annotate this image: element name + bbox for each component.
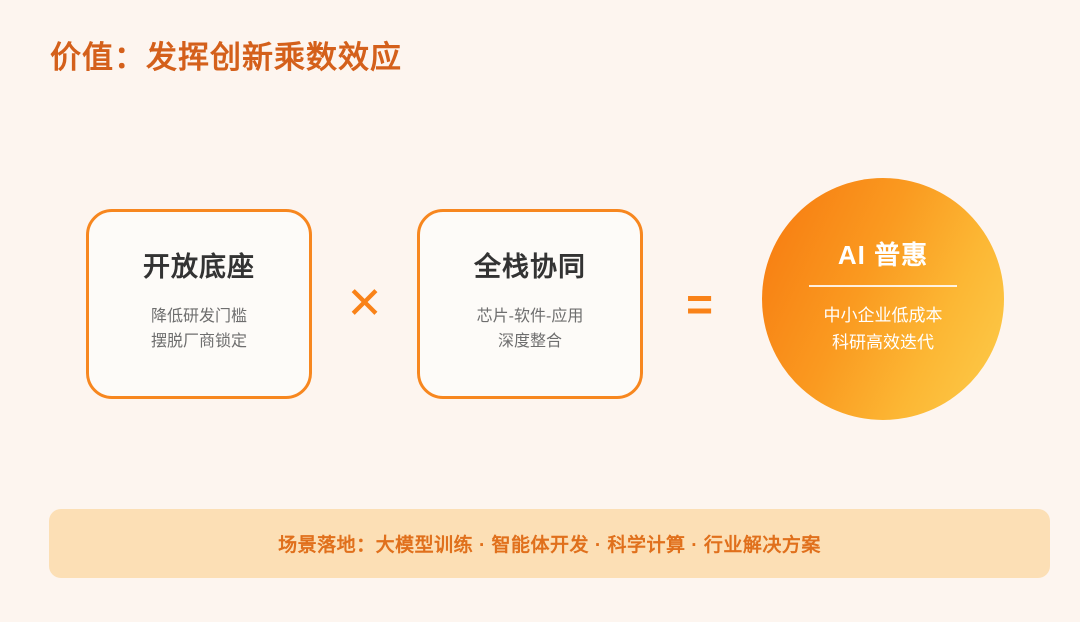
result-circle-divider bbox=[809, 285, 957, 287]
scene-banner-text: 场景落地：大模型训练 · 智能体开发 · 科学计算 · 行业解决方案 bbox=[278, 530, 821, 557]
concept-card-subtitle-line-1: 芯片-软件-应用 bbox=[477, 305, 584, 330]
concept-card-subtitle-line-2: 深度整合 bbox=[477, 330, 584, 355]
concept-card-full-stack: 全栈协同 芯片-软件-应用 深度整合 bbox=[417, 209, 643, 399]
result-circle-title: AI 普惠 bbox=[838, 242, 928, 268]
scene-banner: 场景落地：大模型训练 · 智能体开发 · 科学计算 · 行业解决方案 bbox=[49, 509, 1050, 578]
multiply-icon: ✕ bbox=[312, 209, 417, 399]
result-circle-subtitle-line-1: 中小企业低成本 bbox=[824, 302, 943, 329]
result-circle-ai-inclusion: AI 普惠 中小企业低成本 科研高效迭代 bbox=[762, 178, 1004, 420]
concept-card-title: 开放底座 bbox=[143, 254, 255, 281]
formula-row: 开放底座 降低研发门槛 摆脱厂商锁定 ✕ 全栈协同 芯片-软件-应用 深度整合 … bbox=[0, 168, 1080, 438]
equals-icon: = bbox=[645, 209, 754, 399]
concept-card-subtitle: 芯片-软件-应用 深度整合 bbox=[477, 305, 584, 355]
concept-card-title: 全栈协同 bbox=[474, 254, 586, 281]
concept-card-subtitle-line-1: 降低研发门槛 bbox=[151, 305, 247, 330]
result-circle-subtitle: 中小企业低成本 科研高效迭代 bbox=[824, 302, 943, 356]
concept-card-open-foundation: 开放底座 降低研发门槛 摆脱厂商锁定 bbox=[86, 209, 312, 399]
result-circle-subtitle-line-2: 科研高效迭代 bbox=[824, 329, 943, 356]
concept-card-subtitle: 降低研发门槛 摆脱厂商锁定 bbox=[151, 305, 247, 355]
concept-card-subtitle-line-2: 摆脱厂商锁定 bbox=[151, 330, 247, 355]
page-title: 价值：发挥创新乘数效应 bbox=[50, 32, 402, 77]
